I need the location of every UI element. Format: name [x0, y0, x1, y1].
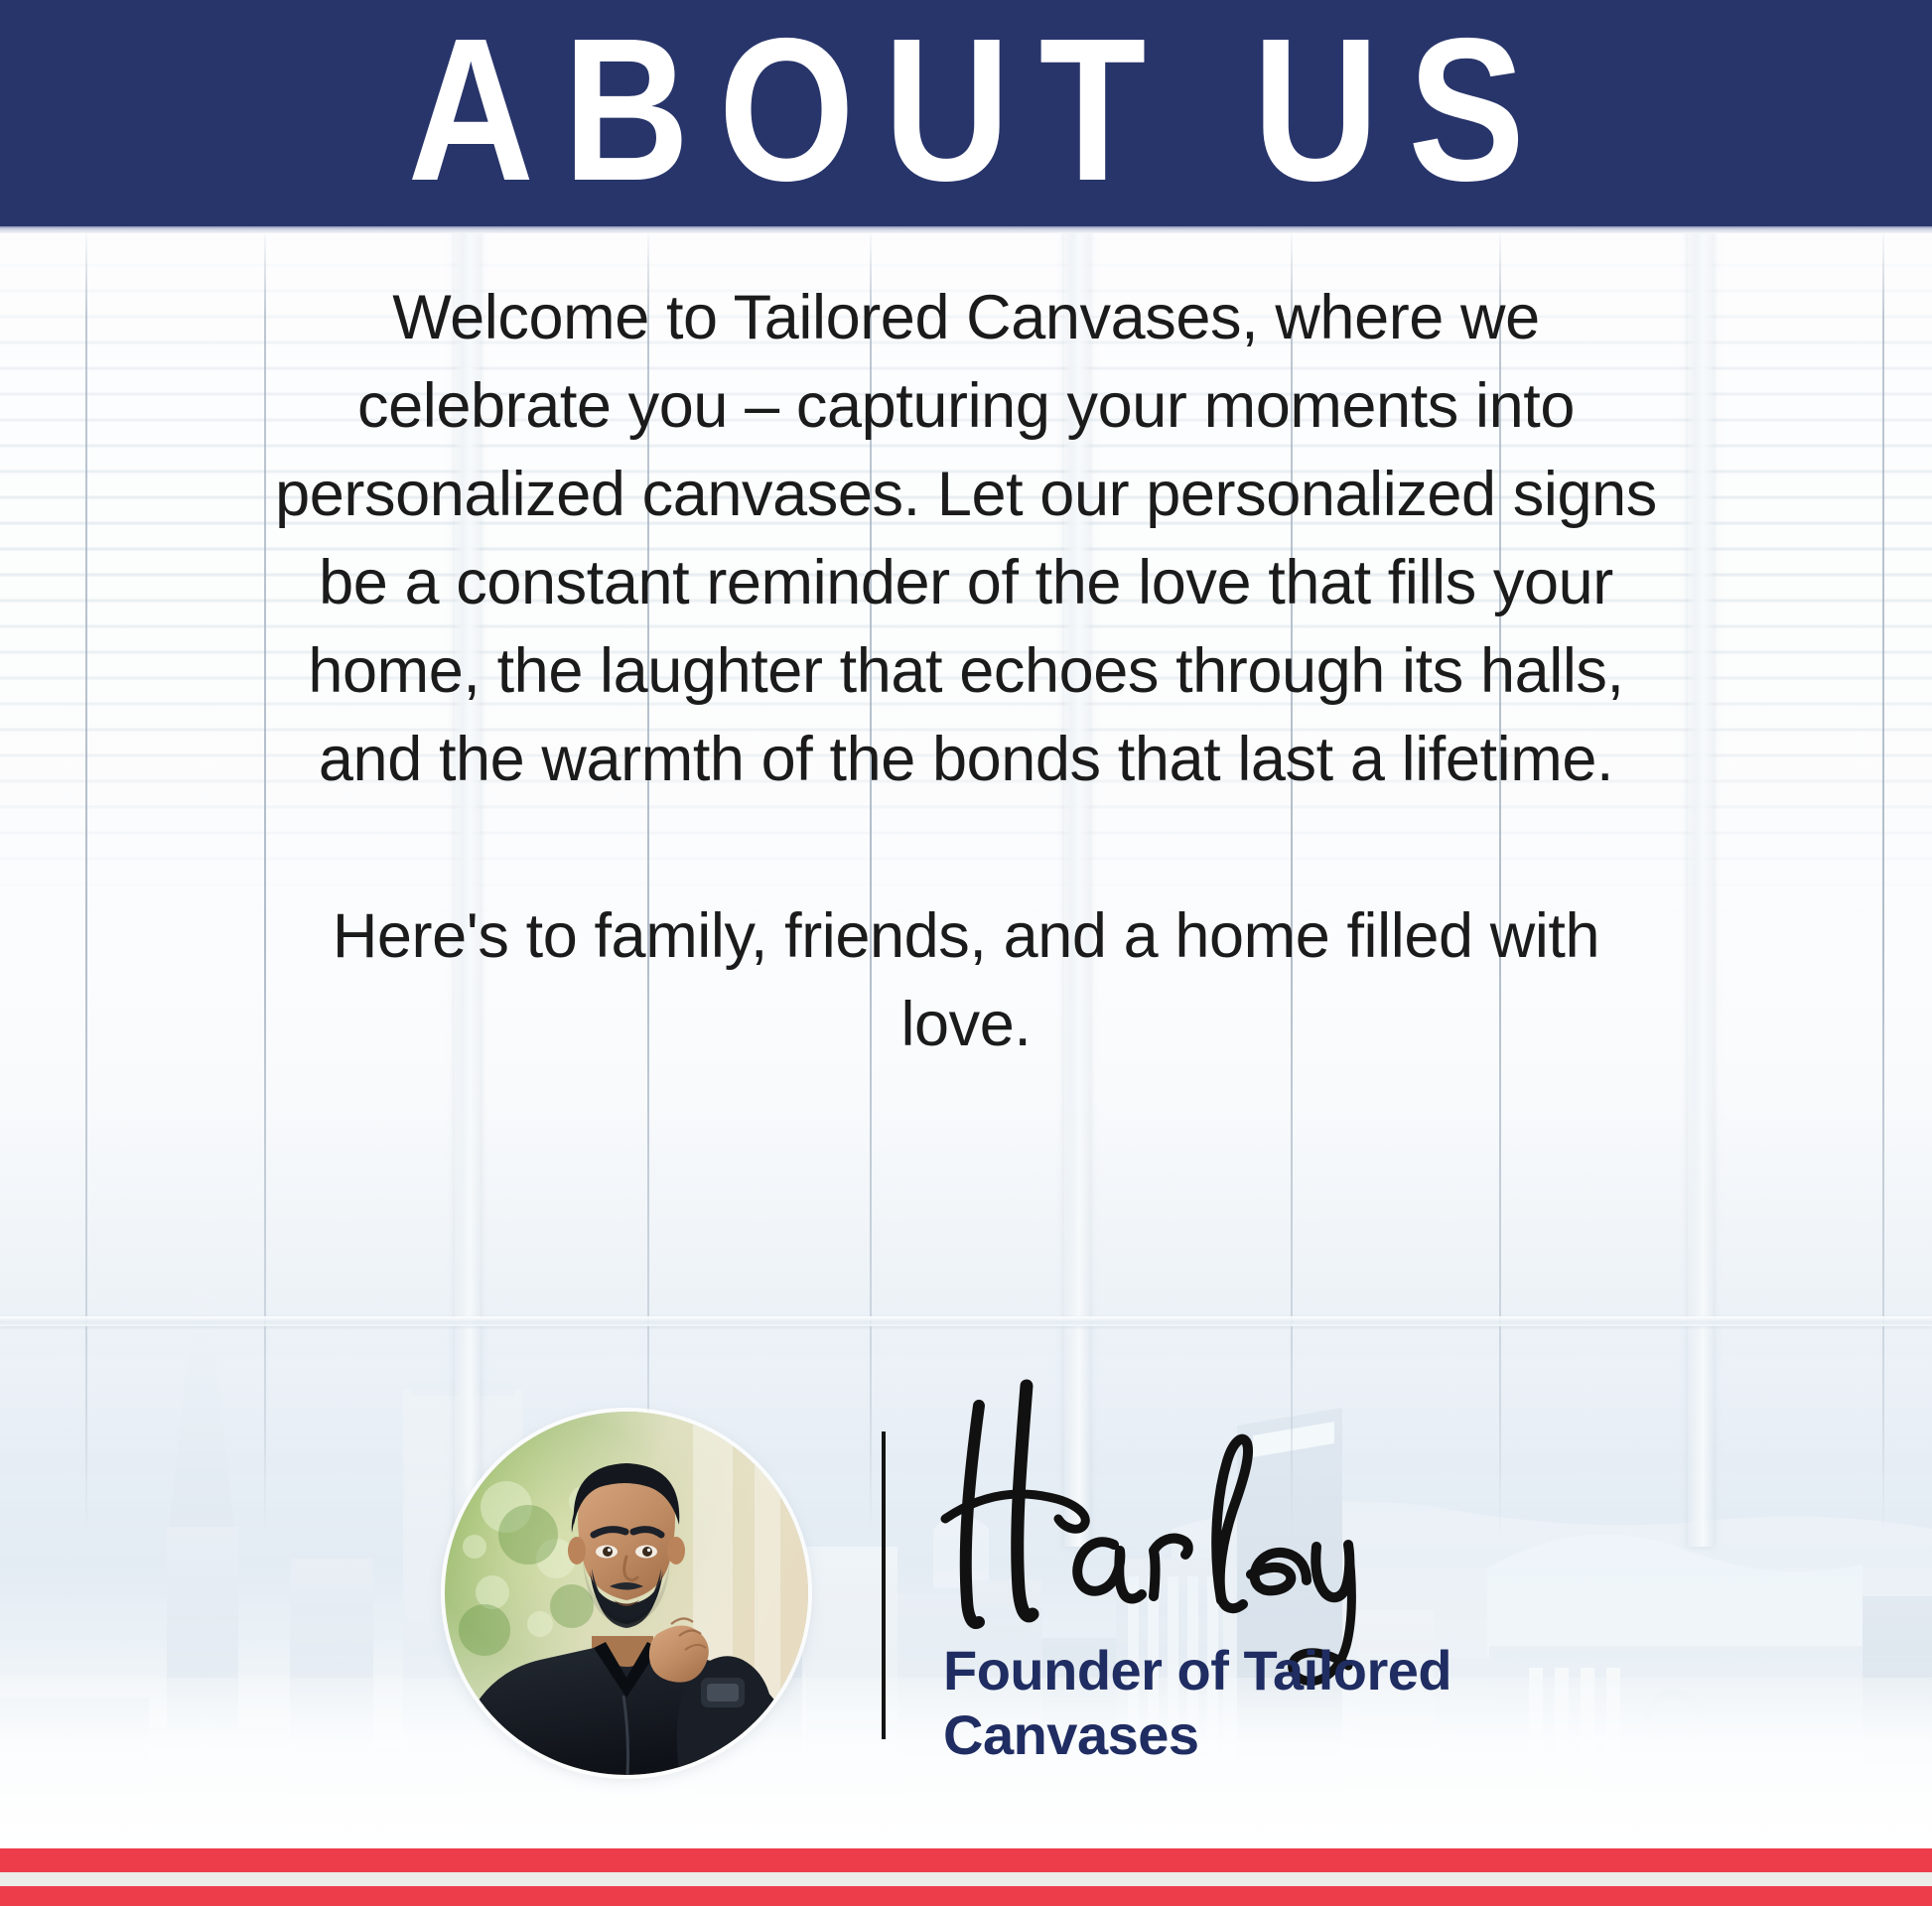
founder-avatar: [445, 1412, 808, 1775]
about-paragraph-2: Here's to family, friends, and a home fi…: [261, 892, 1671, 1069]
about-paragraph-1: Welcome to Tailored Canvases, where we c…: [261, 274, 1671, 804]
window-column: [1688, 226, 1714, 1547]
window-mullion: [1882, 226, 1884, 1537]
founder-title-line-2: Canvases: [943, 1702, 1579, 1767]
paragraph-spacer: [261, 804, 1671, 892]
about-us-banner: ABOUT US: [0, 0, 1932, 226]
page-title: ABOUT US: [378, 8, 1554, 211]
signature-divider: [882, 1431, 886, 1739]
founder-title: Founder of Tailored Canvases: [943, 1638, 1579, 1767]
about-us-body-copy: Welcome to Tailored Canvases, where we c…: [261, 274, 1671, 1069]
signoff-row: Founder of Tailored Canvases: [0, 1390, 1932, 1807]
footer-stripe-gap: [0, 1872, 1932, 1886]
footer-stripe-bottom: [0, 1886, 1932, 1906]
banner-underline: [0, 226, 1932, 233]
window-transom: [0, 1316, 1932, 1326]
founder-title-line-1: Founder of Tailored: [943, 1638, 1579, 1702]
window-mullion: [85, 226, 87, 1537]
about-us-poster: ABOUT US Welcome to Tailored Canvases, w…: [0, 0, 1932, 1906]
footer-stripe-top: [0, 1848, 1932, 1872]
